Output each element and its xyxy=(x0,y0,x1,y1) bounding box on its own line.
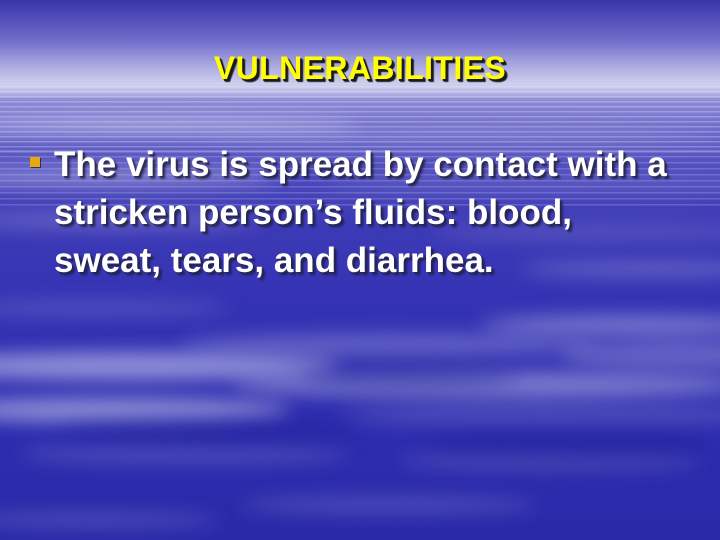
slide-title: VULNERABILITIES xyxy=(0,50,720,87)
bullet-list-item: The virus is spread by contact with a st… xyxy=(30,141,680,285)
bullet-item-text: The virus is spread by contact with a st… xyxy=(54,141,680,285)
slide-body: The virus is spread by contact with a st… xyxy=(30,141,680,285)
presentation-slide: VULNERABILITIES The virus is spread by c… xyxy=(0,0,720,540)
square-bullet-icon xyxy=(30,157,40,167)
